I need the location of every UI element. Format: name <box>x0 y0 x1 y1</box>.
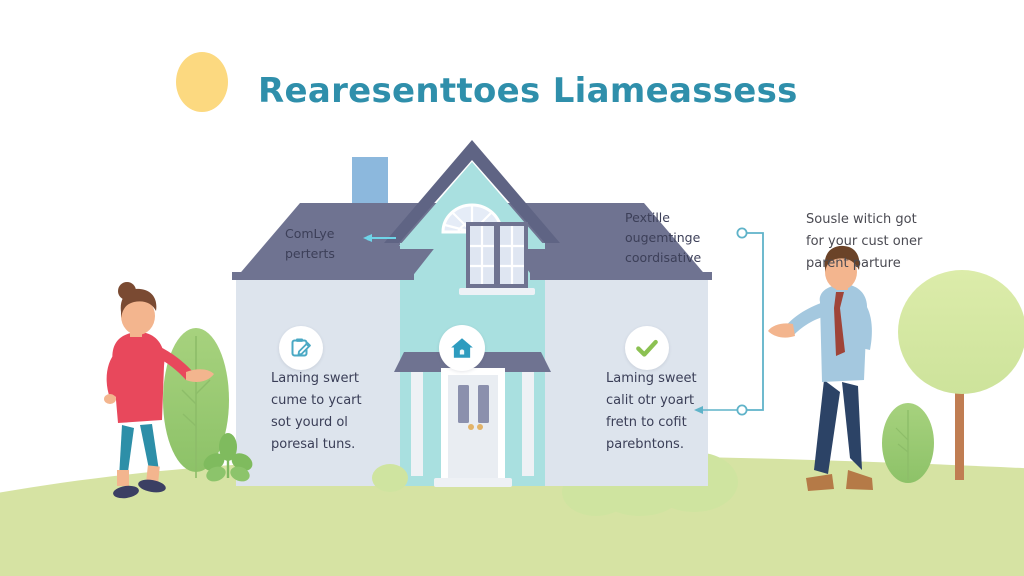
man-hand <box>768 323 795 337</box>
door-knob-a <box>468 424 474 430</box>
gable-main-window <box>459 222 535 295</box>
feature-left-line-2: cume to ycart <box>271 390 421 412</box>
feature-block-right: Laming sweet calit otr yoart fretn to co… <box>606 368 756 456</box>
annotation-gable-label: Pextille ougemtinge coordisative <box>625 208 745 268</box>
feature-right-line-3: fretn to cofit <box>606 412 756 434</box>
porch-column-right <box>522 372 534 476</box>
bush-center <box>372 464 408 492</box>
feature-left-line-3: sot yourd ol <box>271 412 421 434</box>
annotation-roof-line-1: ComLye <box>285 224 405 244</box>
feature-badge-left <box>279 326 323 370</box>
annotation-gable-line-2: ougemtinge <box>625 228 745 248</box>
annotation-gable-line-3: coordisative <box>625 248 745 268</box>
door-knob-b <box>477 424 483 430</box>
illustration-canvas: Rearesenttoes Liameassess ComLye pertert… <box>0 0 1024 576</box>
page-title: Rearesenttoes Liameassess <box>258 64 878 118</box>
annotation-right-line-3: parent parture <box>806 253 966 275</box>
annotation-gable-line-1: Pextille <box>625 208 745 228</box>
door-panel-left <box>458 385 469 423</box>
figure-man-right <box>768 246 873 491</box>
sun-icon <box>176 52 228 112</box>
annotation-roof-label: ComLye perterts <box>285 224 405 264</box>
feature-right-line-4: parebntons. <box>606 434 756 456</box>
feature-right-line-1: Laming sweet <box>606 368 756 390</box>
tree-right-small <box>882 403 934 483</box>
annotation-right-line-1: Sousle witich got <box>806 209 966 231</box>
door-panel-right <box>478 385 489 423</box>
clipboard-edit-icon <box>289 336 313 360</box>
feature-left-line-4: poresal tuns. <box>271 434 421 456</box>
door-step <box>434 478 512 487</box>
home-icon <box>449 335 475 361</box>
feature-block-left: Laming swert cume to ycart sot yourd ol … <box>271 368 421 456</box>
check-icon <box>634 335 660 361</box>
feature-left-line-1: Laming swert <box>271 368 421 390</box>
feature-right-line-2: calit otr yoart <box>606 390 756 412</box>
annotation-right-line-2: for your cust oner <box>806 231 966 253</box>
annotation-roof-line-2: perterts <box>285 244 405 264</box>
center-home-badge <box>439 325 485 371</box>
feature-badge-right <box>625 326 669 370</box>
annotation-right-label: Sousle witich got for your cust oner par… <box>806 209 966 275</box>
